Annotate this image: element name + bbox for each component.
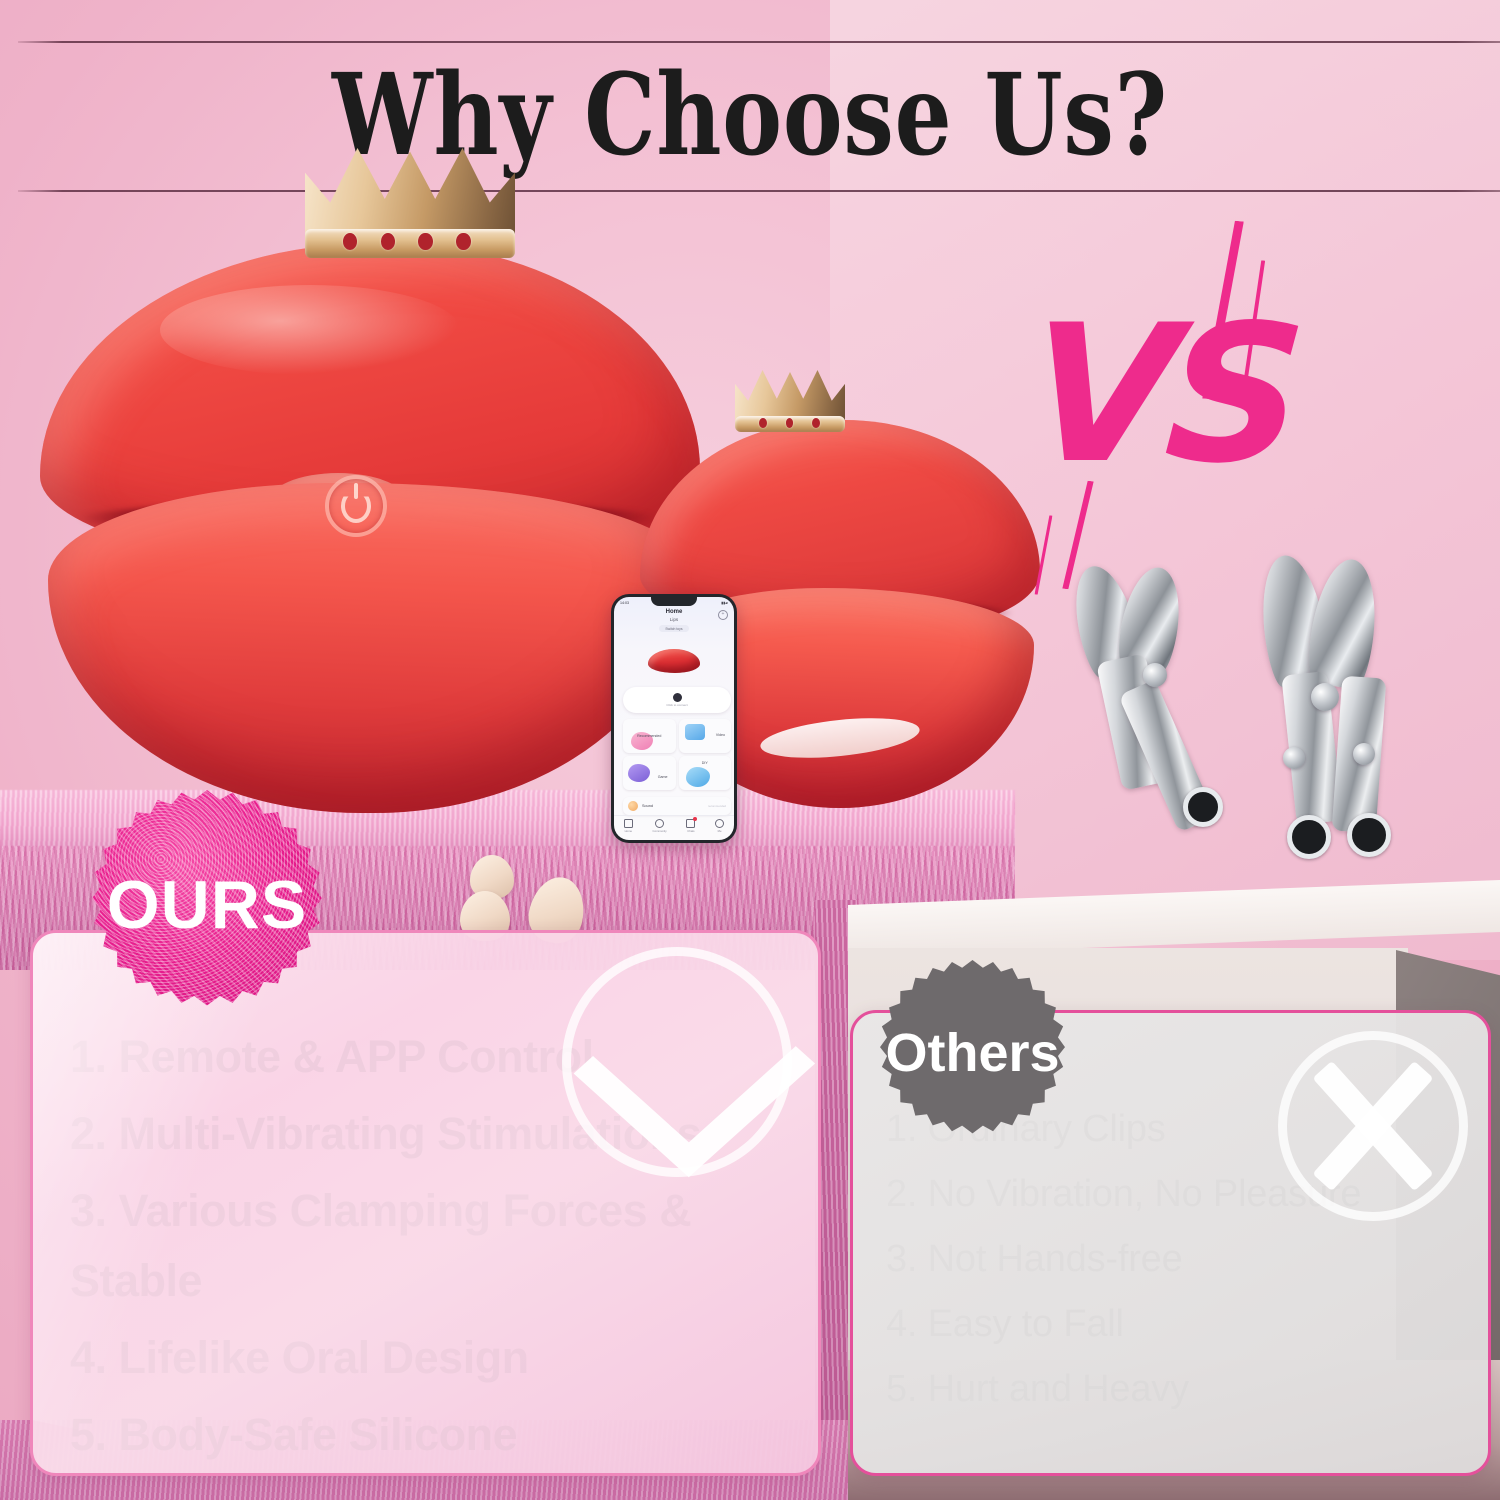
- nav-label: Community: [653, 829, 667, 833]
- x-icon: [1278, 1031, 1468, 1221]
- community-icon: [655, 819, 664, 828]
- title-rule-top: [18, 41, 1500, 43]
- nav-item-me[interactable]: Me: [715, 819, 724, 834]
- nav-label: Chats: [687, 829, 694, 833]
- crown-icon-small: [735, 370, 845, 432]
- nav-label: Me: [718, 829, 722, 833]
- phone-mockup: 14:03 ▮▮▰ Home Lips Switch toys + Click …: [611, 594, 737, 843]
- app-header: Home Lips Switch toys: [614, 609, 734, 632]
- crown-icon-large: [305, 148, 515, 258]
- bluetooth-icon: [673, 693, 682, 702]
- chat-badge: [693, 817, 697, 821]
- home-icon: [624, 819, 633, 828]
- tile-label: Video: [716, 733, 725, 737]
- infographic-canvas: Why Choose Us?: [0, 0, 1500, 1500]
- lips-product-large: [40, 225, 700, 825]
- status-time: 14:03: [620, 601, 629, 605]
- tile-game[interactable]: Game: [623, 756, 676, 790]
- tile-label: Recommended: [637, 734, 661, 738]
- versus-label: VS: [1023, 300, 1300, 490]
- nav-label: Home: [625, 829, 632, 833]
- app-screen-title: Home: [614, 609, 734, 615]
- switch-toys-button[interactable]: Switch toys: [659, 625, 688, 632]
- app-tile-grid: Recommended Video Game DIY: [623, 719, 731, 790]
- nav-item-community[interactable]: Community: [653, 819, 667, 834]
- competitor-clips-product: [1075, 565, 1475, 925]
- profile-icon: [715, 819, 724, 828]
- check-icon: [562, 947, 792, 1177]
- others-badge-label: Others: [885, 1022, 1059, 1084]
- add-device-icon[interactable]: +: [718, 610, 728, 620]
- sound-icon: [628, 801, 638, 811]
- others-badge: Others: [880, 960, 1065, 1145]
- tile-label: Game: [658, 775, 668, 779]
- status-icons: ▮▮▰: [721, 601, 728, 605]
- nav-item-chats[interactable]: Chats: [686, 819, 695, 834]
- connect-button[interactable]: Click to connect: [623, 687, 731, 713]
- versus-graphic: VS: [1020, 230, 1300, 560]
- nav-item-home[interactable]: Home: [624, 819, 633, 834]
- app-device-name: Lips: [614, 617, 734, 622]
- phone-status-bar: 14:03 ▮▮▰: [614, 598, 734, 607]
- device-thumbnail: [648, 649, 700, 673]
- ours-badge-label: OURS: [107, 866, 307, 944]
- tile-label: DIY: [702, 761, 708, 765]
- tile-diy[interactable]: DIY: [679, 756, 732, 790]
- title-rule-bottom: [18, 190, 1500, 192]
- app-bottom-nav: Home Community Chats Me: [614, 815, 734, 836]
- ours-badge: OURS: [92, 790, 322, 1020]
- power-button-icon: [325, 475, 387, 537]
- connect-caption: Click to connect: [666, 703, 687, 707]
- sound-meta: recommended: [708, 804, 726, 808]
- tile-recommended[interactable]: Recommended: [623, 719, 676, 753]
- sound-list-item[interactable]: Sound recommended: [623, 797, 731, 815]
- sound-label: Sound: [642, 804, 653, 808]
- tile-video[interactable]: Video: [679, 719, 732, 753]
- phone-screen: 14:03 ▮▮▰ Home Lips Switch toys + Click …: [614, 597, 734, 840]
